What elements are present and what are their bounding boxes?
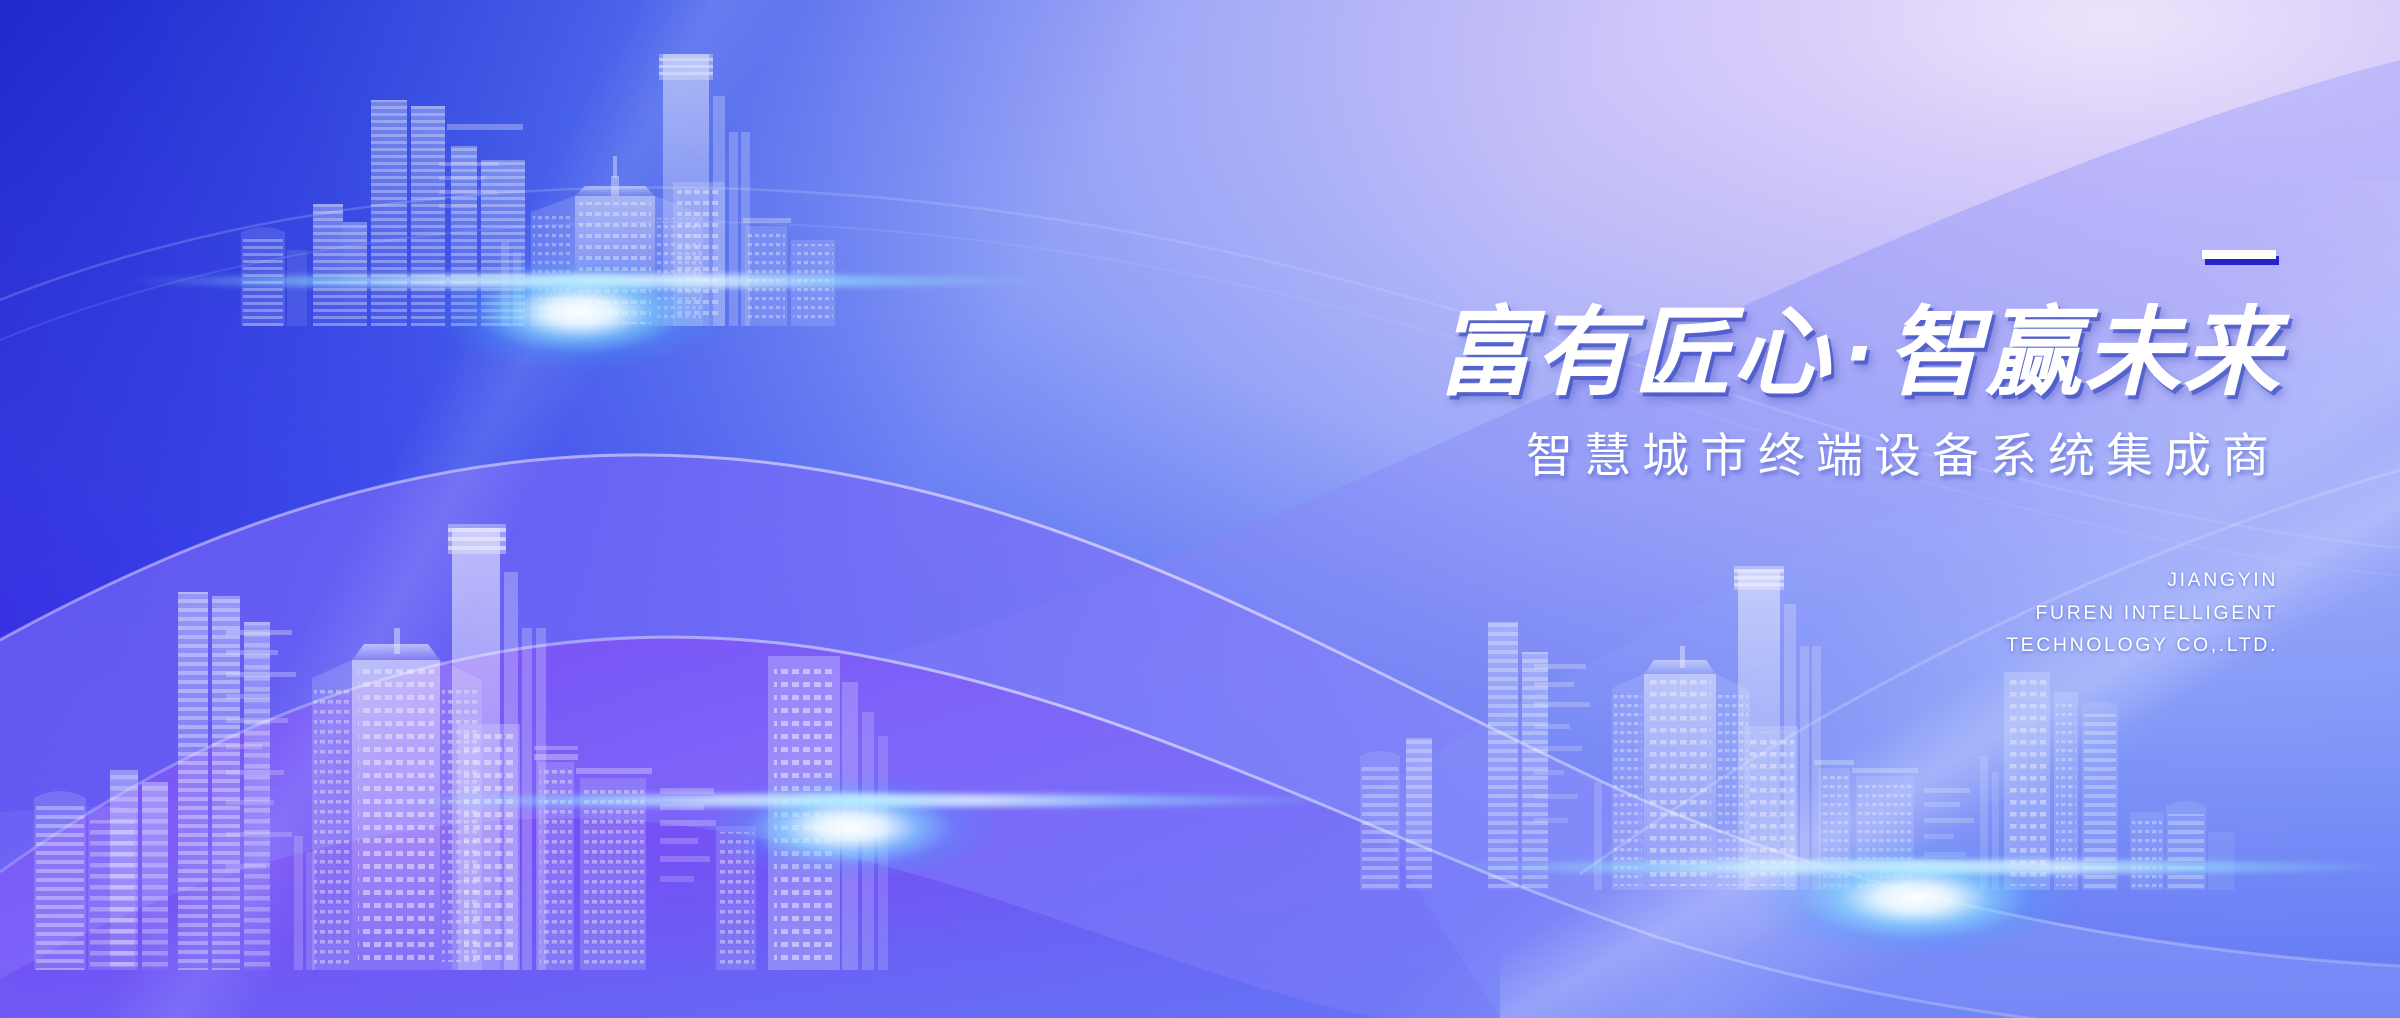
company-line-1: JIANGYIN bbox=[1142, 564, 2278, 597]
headline-left: 富有匠心 bbox=[1436, 298, 1832, 407]
page-subtitle: 智慧城市终端设备系统集成商 bbox=[1142, 417, 2282, 486]
page-title: 富有匠心·智赢未来 bbox=[1142, 304, 2282, 403]
city-skyline-icon bbox=[0, 500, 900, 970]
city-skyline-icon bbox=[55, 36, 835, 326]
accent-dash-icon bbox=[2202, 250, 2276, 259]
headline-right: 智赢未来 bbox=[1886, 298, 2282, 407]
banner-text-block: 富有匠心·智赢未来 智慧城市终端设备系统集成商 JIANGYIN FUREN I… bbox=[1142, 250, 2282, 662]
headline-separator: · bbox=[1832, 298, 1886, 407]
company-line-3: TECHNOLOGY CO,.LTD. bbox=[1142, 629, 2278, 662]
promotional-banner: 富有匠心·智赢未来 智慧城市终端设备系统集成商 JIANGYIN FUREN I… bbox=[0, 0, 2400, 1018]
company-name-block: JIANGYIN FUREN INTELLIGENT TECHNOLOGY CO… bbox=[1142, 564, 2282, 662]
company-line-2: FUREN INTELLIGENT bbox=[1142, 597, 2278, 630]
